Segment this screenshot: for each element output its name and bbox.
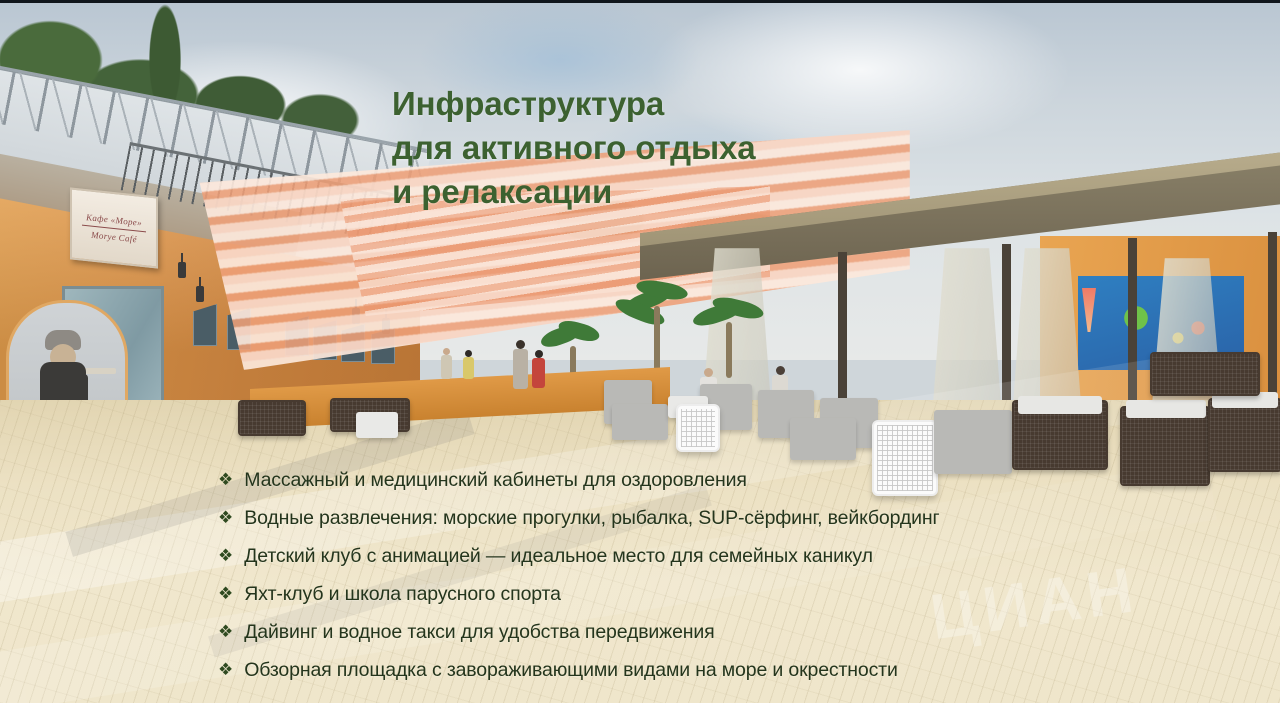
list-item: ❖ Водные развлечения: морские прогулки, …	[218, 506, 1238, 544]
diamond-bullet-icon: ❖	[218, 658, 233, 682]
patio-table	[356, 412, 398, 438]
list-item: ❖ Массажный и медицинский кабинеты для о…	[218, 468, 1238, 506]
sofa-cushion	[1126, 400, 1206, 418]
cafe-sign-line-en: Morye Café	[91, 229, 137, 244]
wall-lantern-icon	[196, 286, 204, 302]
lounge-sofa	[612, 404, 668, 440]
list-item: ❖ Детский клуб с анимацией — идеальное м…	[218, 544, 1238, 582]
heading-line-1: Инфраструктура	[392, 82, 912, 126]
diamond-bullet-icon: ❖	[218, 506, 233, 530]
wall-lantern-icon	[178, 262, 186, 278]
cafe-sign: Кафе «Море» Morye Café	[70, 187, 158, 268]
lounge-sofa	[934, 410, 1012, 474]
diamond-bullet-icon: ❖	[218, 468, 233, 492]
slide-heading: Инфраструктура для активного отдыха и ре…	[392, 82, 912, 215]
top-border	[0, 0, 1280, 3]
feature-list: ❖ Массажный и медицинский кабинеты для о…	[218, 468, 1238, 696]
rattan-console	[1150, 352, 1260, 396]
list-item-label: Водные развлечения: морские прогулки, ры…	[244, 506, 939, 530]
diamond-bullet-icon: ❖	[218, 582, 233, 606]
list-item: ❖ Обзорная площадка с завораживающими ви…	[218, 658, 1238, 696]
list-item-label: Массажный и медицинский кабинеты для озд…	[244, 468, 747, 492]
list-item: ❖ Дайвинг и водное такси для удобства пе…	[218, 620, 1238, 658]
list-item-label: Дайвинг и водное такси для удобства пере…	[244, 620, 714, 644]
rattan-sofa	[238, 400, 306, 436]
promo-slide: Кафе «Море» Morye Café	[0, 0, 1280, 703]
list-item-label: Яхт-клуб и школа парусного спорта	[244, 582, 561, 606]
lounge-sofa	[790, 418, 856, 460]
canopy-post	[838, 252, 847, 402]
statue-tray	[82, 368, 116, 374]
rattan-sofa	[1208, 398, 1280, 472]
list-item: ❖ Яхт-клуб и школа парусного спорта	[218, 582, 1238, 620]
list-item-label: Детский клуб с анимацией — идеальное мес…	[244, 544, 873, 568]
heading-line-2: для активного отдыха	[392, 126, 912, 170]
heading-line-3: и релаксации	[392, 170, 912, 214]
diamond-bullet-icon: ❖	[218, 620, 233, 644]
wicker-armchair	[676, 404, 720, 452]
sofa-cushion	[1018, 396, 1102, 414]
list-item-label: Обзорная площадка с завораживающими вида…	[244, 658, 897, 682]
diamond-bullet-icon: ❖	[218, 544, 233, 568]
